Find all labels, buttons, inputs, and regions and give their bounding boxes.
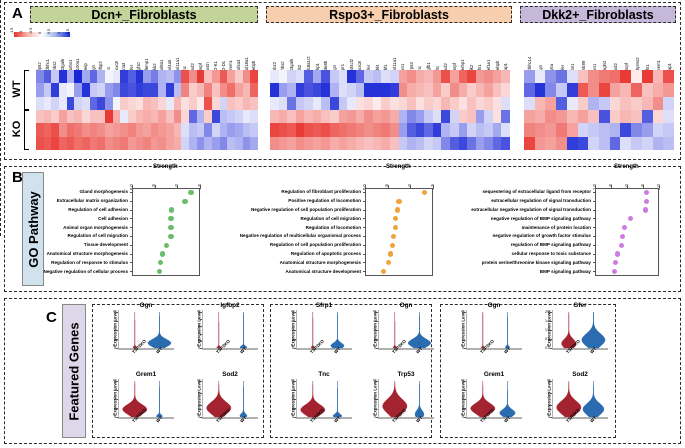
heatmap-cell [399,110,408,123]
heatmap-cell [459,97,468,110]
heatmap-cell [356,137,365,150]
heatmap-cell [158,70,166,83]
heatmap-cell [339,70,348,83]
go-term-label: negative regulation of growth factor sti… [468,233,591,238]
heatmap-cell [524,137,535,150]
heatmap-cell [467,97,476,110]
heatmap-cell [381,110,390,123]
heatmap-cell [484,110,493,123]
heatmap-cell [128,70,136,83]
go-term-label: Negative regulation of cellular process [5,269,128,274]
violin-y-tick-label: 0 [285,346,294,350]
heatmap-cell [390,70,399,83]
colorbar-tick: -0.5 [29,28,33,34]
figure-root: A -1.5-1-0.500.511.5WTKODcn+_Fibroblasts… [0,0,685,448]
heatmap-cell [330,137,339,150]
go-term-label: sequestering of extracellular ligand fro… [468,189,591,194]
heatmap-cell [227,70,235,83]
go-term-label: extracellular regulation of signal trans… [468,198,591,203]
heatmap-cell [663,123,674,136]
heatmap-cell [36,97,44,110]
violin-title: Igfbp2 [202,302,258,309]
heatmap-cell [642,110,653,123]
violin-title: Sfrp1 [296,302,352,309]
go-y-tick-mark [363,236,366,237]
heatmap-title-3: Dkk2+_Fibroblasts [520,6,676,23]
heatmap-cell [642,83,653,96]
violin-y-tick-label: 1.5 [541,319,550,323]
heatmap-cell [501,97,510,110]
heatmap-cell [321,70,330,83]
heatmap-cell [59,70,67,83]
heatmap-cell [158,97,166,110]
go-y-tick-mark [593,254,596,255]
heatmap-cell [166,97,174,110]
heatmap-cell [120,137,128,150]
heatmap-cell [535,83,546,96]
heatmap-cell [82,97,90,110]
violin-y-tick-label: 0 [367,415,376,419]
heatmap-cell [82,83,90,96]
heatmap-cell [212,110,220,123]
violin-y-tick-label: 1.0 [541,328,550,332]
violin-x-axis-line [296,417,352,419]
heatmap-cell [235,137,243,150]
heatmap-cell [287,83,296,96]
heatmap-cell [279,70,288,83]
heatmap-cell [441,70,450,83]
heatmap-cell [189,97,197,110]
violin-y-tick-label: 3 [191,379,200,383]
heatmap-cell [642,137,653,150]
heatmap-cell [524,110,535,123]
go-term-label: Animal organ morphogenesis [5,225,128,230]
heatmap-cell [631,137,642,150]
heatmap-cell [296,123,305,136]
heatmap-cell [82,137,90,150]
heatmap-cell [578,110,589,123]
go-term-label: Negative regulation of multicellular org… [238,233,361,238]
heatmap-cell [390,97,399,110]
heatmap-cell [424,110,433,123]
heatmap-cell [151,137,159,150]
go-dot [160,251,165,256]
go-y-tick-mark [593,245,596,246]
heatmap-cell [620,70,631,83]
violin-x-axis-line [118,348,174,350]
heatmap-cell [235,83,243,96]
heatmap-cell [304,123,313,136]
heatmap-cell [390,137,399,150]
heatmap-cell [59,83,67,96]
heatmap-cell [36,110,44,123]
heatmap-cell [270,97,279,110]
heatmap-cell [36,83,44,96]
go-dot [619,243,624,248]
heatmap-cell [321,137,330,150]
heatmap-cell [59,97,67,110]
heatmap-cell [441,123,450,136]
heatmap-cell [97,83,105,96]
go-y-tick-mark [363,262,366,263]
colorbar-tick: 0.5 [47,29,51,34]
heatmap-cell [44,137,52,150]
heatmap-cell [347,123,356,136]
heatmap-cell [407,123,416,136]
heatmap-cell [44,70,52,83]
heatmap-cell [296,110,305,123]
heatmap-cell [270,70,279,83]
heatmap-cell [416,137,425,150]
go-y-tick-mark [130,210,133,211]
go-term-label: Anatomical structure morphogenesis [238,260,361,265]
go-x-tick-mark [659,185,660,188]
heatmap-cell [467,110,476,123]
heatmap-cell [304,110,313,123]
heatmap-cell [279,83,288,96]
go-y-tick-mark [363,245,366,246]
go-y-tick-mark [363,192,366,193]
heatmap-cell [321,97,330,110]
heatmap-cell [143,97,151,110]
colorbar-tick: -1.5 [10,28,14,34]
go-dot [395,207,400,212]
violin-y-tick-label: 0 [107,346,116,350]
heatmap-cell [304,70,313,83]
violin-x-axis-line [296,348,352,350]
go-dot [388,251,393,256]
violin-y-tick-label: 2 [107,397,116,401]
heatmap-cell [204,83,212,96]
heatmap-cell [501,70,510,83]
heatmap-cell [433,70,442,83]
violin-y-tick-label: 0.0 [541,346,550,350]
heatmap-cell [105,123,113,136]
violin-title: Ogn [378,302,434,309]
heatmap-cell [313,137,322,150]
heatmap-cell [356,97,365,110]
heatmap-cell [220,137,228,150]
heatmap-cell [620,123,631,136]
violin-y-tick-label: 2.0 [541,310,550,314]
heatmap-cell [197,123,205,136]
go-y-tick-mark [130,201,133,202]
go-y-tick-mark [593,236,596,237]
heatmap-cell [74,137,82,150]
violin-y-tick-label: 2 [541,391,550,395]
heatmap-cell [220,83,228,96]
heatmap-cell [493,137,502,150]
heatmap-cell [599,123,610,136]
heatmap-cell [82,110,90,123]
heatmap-cell [51,110,59,123]
heatmap-cell [390,110,399,123]
heatmap-cell [339,97,348,110]
violin-title: Trp53 [378,371,434,378]
heatmap-cell [467,137,476,150]
heatmap-cell [136,123,144,136]
colorbar-tick: 0 [38,32,42,34]
heatmap-cell [189,110,197,123]
heatmap-cell [381,83,390,96]
go-term-label: Regulation of cell adhesion [5,207,128,212]
heatmap-cell [476,137,485,150]
heatmap-cell [381,70,390,83]
heatmap-grid-1 [36,70,258,150]
heatmap-cell [399,70,408,83]
heatmap-cell [90,110,98,123]
heatmap-cell [642,123,653,136]
heatmap-cell [113,83,121,96]
heatmap-cell [304,137,313,150]
heatmap-cell [535,137,546,150]
go-panel-separator [0,0,1,118]
heatmap-cell [535,123,546,136]
heatmap-cell [227,97,235,110]
violin-y-tick-label: 4 [367,310,376,314]
heatmap-cell [663,110,674,123]
heatmap-cell [578,70,589,83]
violin-y-tick-label: 0 [107,415,116,419]
heatmap-cell [313,110,322,123]
heatmap-cell [120,83,128,96]
go-y-tick-mark [130,245,133,246]
go-term-label: extracellular negative regulation of sig… [468,207,591,212]
heatmap-cell [484,83,493,96]
heatmap-cell [243,83,251,96]
heatmap-cell [407,137,416,150]
heatmap-cell [501,83,510,96]
heatmap-cell [105,83,113,96]
violin-y-tick-label: 4 [285,379,294,383]
heatmap-cell [181,97,189,110]
violin-y-tick-label: 2 [107,328,116,332]
heatmap-cell [212,123,220,136]
heatmap-title-text: Rspo3+_Fibroblasts [329,8,449,22]
violin-title: Grem1 [118,371,174,378]
heatmap-cell [631,123,642,136]
heatmap-cell [304,83,313,96]
heatmap-cell [524,70,535,83]
heatmap-cell [339,123,348,136]
go-y-tick-mark [593,218,596,219]
heatmap-cell [67,70,75,83]
heatmap-cell [620,137,631,150]
heatmap-cell [151,97,159,110]
go-axis-title: Strength [386,164,411,170]
heatmap-cell [599,97,610,110]
heatmap-cell [321,110,330,123]
heatmap-cell [212,137,220,150]
go-y-tick-mark [130,236,133,237]
heatmap-cell [136,70,144,83]
heatmap-cell [321,123,330,136]
violin-title: Ogn [118,302,174,309]
violin-y-tick-label: 2 [455,310,464,314]
go-plot-box-3 [595,188,659,276]
heatmap-cell [243,123,251,136]
heatmap-cell [204,110,212,123]
heatmap-cell [373,110,382,123]
heatmap-cell [250,97,258,110]
heatmap-cell [450,110,459,123]
heatmap-cell [484,123,493,136]
heatmap-cell [44,110,52,123]
heatmap-cell [67,83,75,96]
violin-y-tick-label: 0 [367,346,376,350]
heatmap-cell [578,123,589,136]
heatmap-cell [399,123,408,136]
violin-y-tick-label: 3 [285,319,294,323]
heatmap-cell [120,110,128,123]
heatmap-cell [339,110,348,123]
violin-title: Tnc [296,371,352,378]
heatmap-cell [330,123,339,136]
heatmap-cell [197,137,205,150]
heatmap-cell [599,83,610,96]
heatmap-cell [136,97,144,110]
heatmap-cell [287,123,296,136]
heatmap-cell [90,70,98,83]
heatmap-cell [166,110,174,123]
heatmap-cell [545,123,556,136]
heatmap-cell [347,70,356,83]
go-term-label: Regulation of cell migration [238,216,361,221]
heatmap-cell [588,83,599,96]
heatmap-cell [467,70,476,83]
heatmap-cell [390,123,399,136]
go-term-label: negative regulation of BMP signaling pat… [468,216,591,221]
heatmap-cell [243,137,251,150]
heatmap-cell [250,123,258,136]
heatmap-cell [189,83,197,96]
go-x-tick-mark [433,185,434,188]
heatmap-cell [279,97,288,110]
heatmap-cell [270,83,279,96]
go-dot [615,251,620,256]
go-y-tick-mark [363,210,366,211]
heatmap-cell [390,83,399,96]
heatmap-cell [459,123,468,136]
heatmap-cell [181,123,189,136]
violin-y-tick-label: 1 [367,397,376,401]
heatmap-cell [313,83,322,96]
violin-y-tick-label: 4 [107,310,116,314]
heatmap-cell [51,83,59,96]
heatmap-cell [90,97,98,110]
heatmap-cell [204,70,212,83]
go-dot [182,199,187,204]
heatmap-cell [287,137,296,150]
heatmap-cell [220,97,228,110]
heatmap-cell [610,83,621,96]
heatmap-cell [567,83,578,96]
heatmap-cell [235,110,243,123]
heatmap-cell [105,97,113,110]
violin-y-tick-label: 3 [455,388,464,392]
heatmap-cell [36,137,44,150]
heatmap-cell [330,97,339,110]
violin-y-tick-label: 0 [455,415,464,419]
heatmap-cell [204,123,212,136]
heatmap-cell [424,70,433,83]
heatmap-cell [416,70,425,83]
heatmap-cell [631,83,642,96]
heatmap-cell [270,123,279,136]
heatmap-cell [441,97,450,110]
violin-y-tick-label: 1 [107,337,116,341]
heatmap-cell [588,137,599,150]
violin-y-tick-label: 5 [191,310,200,314]
violin-y-tick-label: 3 [107,388,116,392]
violin-y-tick-label: 2 [285,397,294,401]
go-term-label: Positive regulation of locomotion [238,198,361,203]
heatmap-cell [151,83,159,96]
heatmap-cell [105,110,113,123]
heatmap-cell [484,70,493,83]
heatmap-cell [250,83,258,96]
heatmap-cell [74,110,82,123]
heatmap-cell [653,70,664,83]
heatmap-cell [524,83,535,96]
go-y-tick-mark [130,254,133,255]
heatmap-cell [59,110,67,123]
heatmap-cell [212,97,220,110]
heatmap-cell [189,123,197,136]
violin-y-tick-label: 3 [285,388,294,392]
heatmap-cell [407,97,416,110]
go-term-label: protein serine/threonine kinase signalin… [468,260,591,265]
heatmap-cell [578,97,589,110]
heatmap-cell [450,83,459,96]
heatmap-cell [44,97,52,110]
heatmap-cell [113,110,121,123]
heatmap-cell [653,83,664,96]
heatmap-cell [235,70,243,83]
heatmap-cell [120,97,128,110]
go-term-label: Anatomical structure morphogenesis [5,251,128,256]
heatmap-cell [158,137,166,150]
heatmap-cell [51,123,59,136]
heatmap-cell [82,123,90,136]
heatmap-cell [36,70,44,83]
panel-a-letter: A [12,6,23,21]
heatmap-cell [399,83,408,96]
heatmap-cell [113,123,121,136]
go-dot [644,199,649,204]
heatmap-cell [556,123,567,136]
heatmap-cell [364,110,373,123]
heatmap-cell [174,137,182,150]
violin-title: Sod2 [552,371,608,378]
heatmap-grid-2 [270,70,510,150]
go-term-label: Anatomical structure development [238,269,361,274]
heatmap-cell [113,137,121,150]
heatmap-cell [567,70,578,83]
go-dot [168,234,173,239]
violin-y-tick-label: 4 [455,379,464,383]
go-term-label: cellular response to toxic substance [468,251,591,256]
heatmap-cell [433,83,442,96]
go-dot [157,269,162,274]
heatmap-cell [631,70,642,83]
violin-y-tick-label: 2 [191,391,200,395]
heatmap-cell [476,123,485,136]
heatmap-cell [136,110,144,123]
heatmap-cell [189,137,197,150]
go-panel-separator [0,118,1,236]
go-dot [643,207,648,212]
